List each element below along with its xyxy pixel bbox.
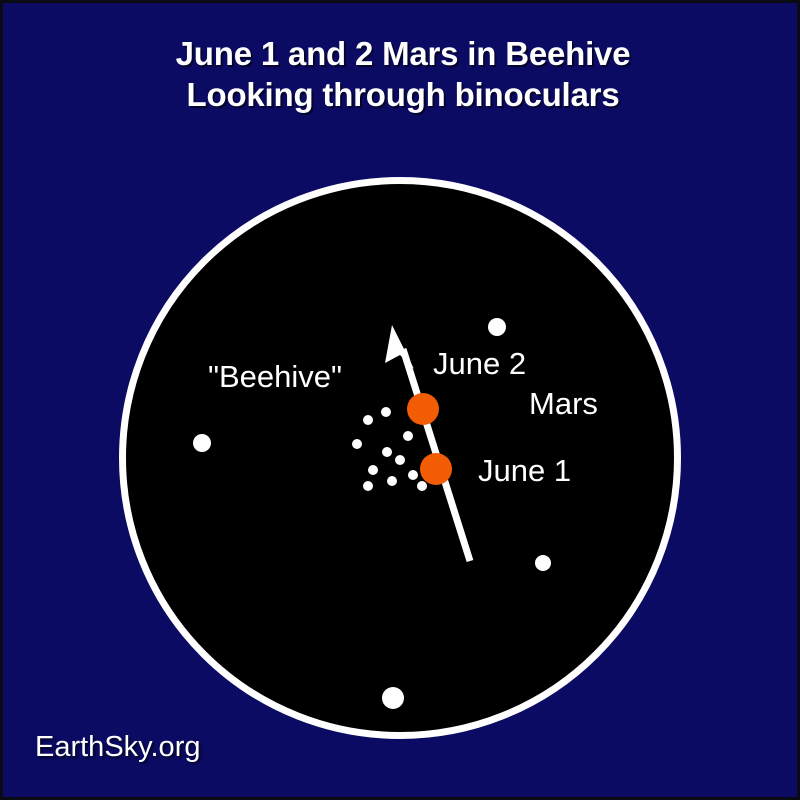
earthsky-watermark: EarthSky.org <box>35 731 200 763</box>
beehive-cluster-star <box>363 481 373 491</box>
beehive-cluster-star <box>382 447 392 457</box>
mars-label: Mars <box>529 388 598 419</box>
beehive-cluster-star <box>352 439 362 449</box>
beehive-cluster-star <box>408 470 418 480</box>
field-star-upper-right <box>488 318 506 336</box>
binocular-field-of-view <box>119 177 681 739</box>
beehive-cluster-star <box>417 481 427 491</box>
field-star-lower-right <box>535 555 551 571</box>
astronomy-sky-chart: June 1 and 2 Mars in Beehive Looking thr… <box>0 0 800 800</box>
mars-position-june-1 <box>420 453 452 485</box>
june-1-label: June 1 <box>478 455 571 486</box>
title-line-2: Looking through binoculars <box>3 74 800 115</box>
beehive-label: "Beehive" <box>208 361 342 392</box>
mars-position-june-2 <box>407 393 439 425</box>
beehive-cluster-star <box>363 415 373 425</box>
beehive-cluster-star <box>381 407 391 417</box>
sky-field-inner <box>126 184 674 732</box>
beehive-cluster-star <box>395 455 405 465</box>
beehive-cluster-star <box>403 431 413 441</box>
beehive-cluster-star <box>368 465 378 475</box>
chart-title-block: June 1 and 2 Mars in Beehive Looking thr… <box>3 33 800 115</box>
field-star-left <box>193 434 211 452</box>
beehive-cluster-star <box>387 476 397 486</box>
june-2-label: June 2 <box>433 348 526 379</box>
field-star-bottom <box>382 687 404 709</box>
title-line-1: June 1 and 2 Mars in Beehive <box>3 33 800 74</box>
